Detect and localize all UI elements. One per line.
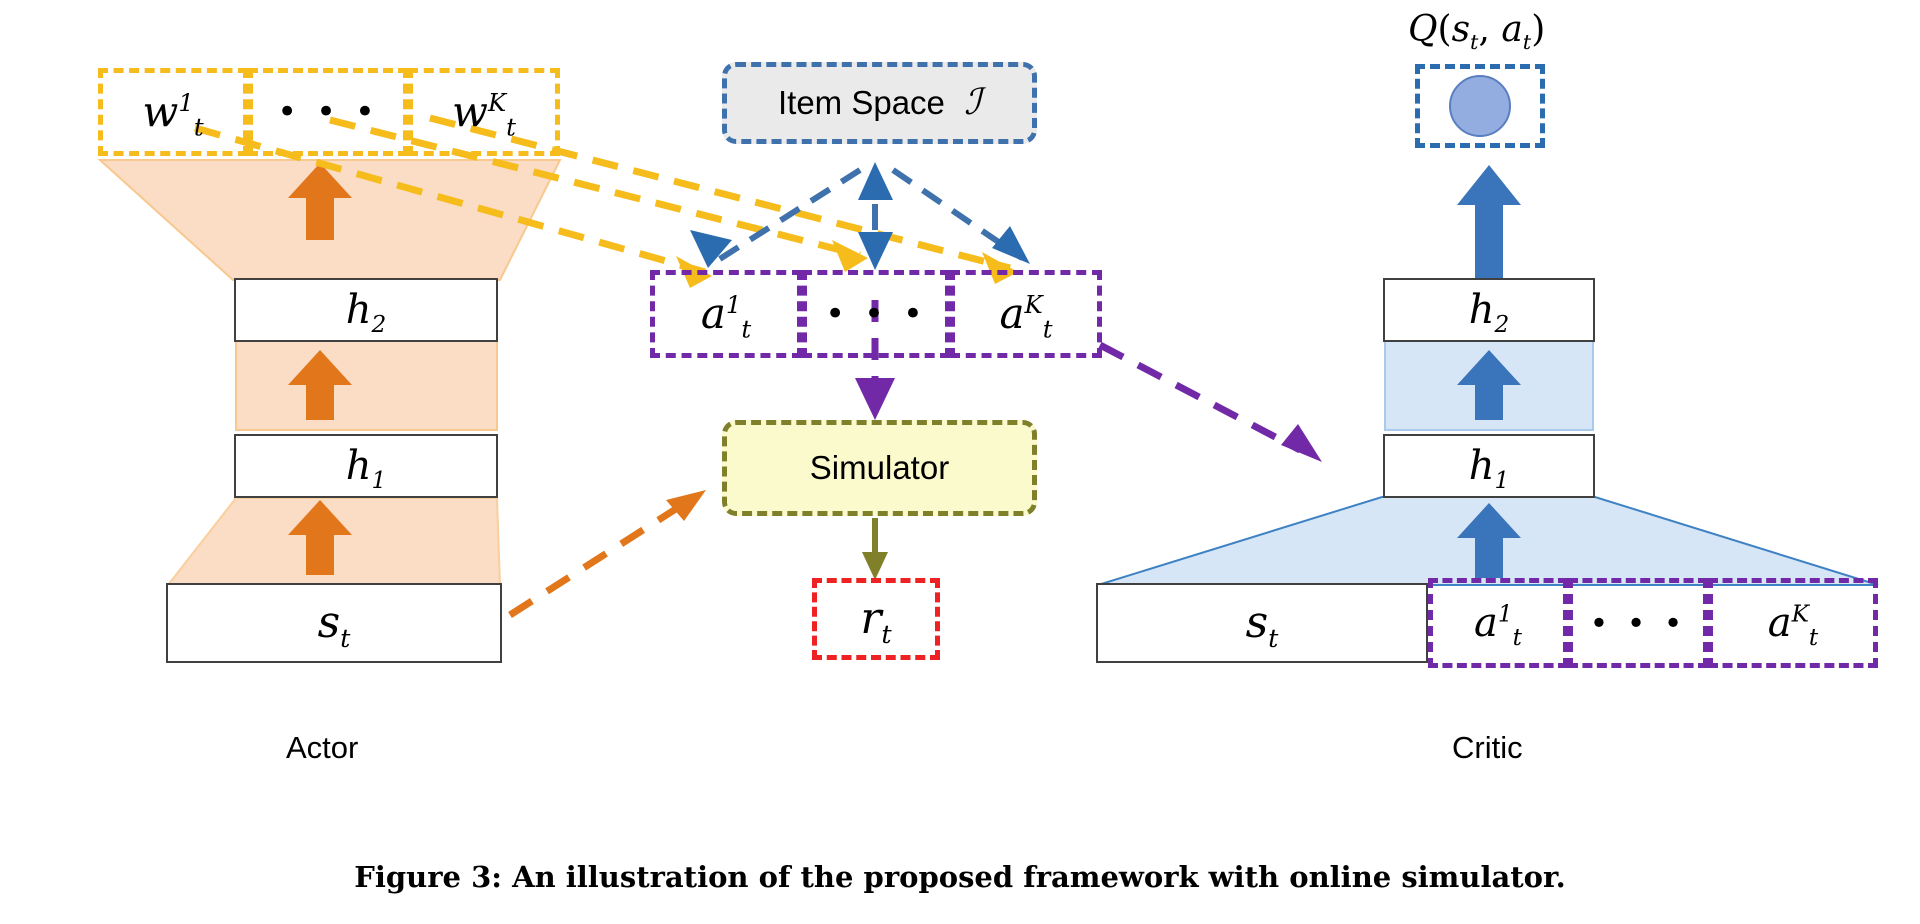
q-value-math: Q(st, at) <box>1408 9 1545 50</box>
actor-section-label: Actor <box>286 730 358 766</box>
simulator-to-reward-arrow <box>862 518 888 580</box>
critic-hidden-layer-h1[interactable]: h1 <box>1383 434 1595 498</box>
critic-lower-fan <box>1098 497 1878 585</box>
actor-hidden-layer-h1[interactable]: h1 <box>234 434 498 498</box>
critic-input-state-label: st <box>1246 601 1279 645</box>
critic-arrows <box>1457 165 1521 578</box>
actor-weight-box-ellipsis[interactable]: • • • <box>248 68 408 156</box>
itemspace-arrowheads <box>690 162 1030 270</box>
action-1-label: a1t <box>701 293 751 335</box>
action-box-ellipsis[interactable]: • • • <box>802 270 950 358</box>
actor-h2-label: h2 <box>346 290 387 330</box>
critic-hidden-layer-h2[interactable]: h2 <box>1383 278 1595 342</box>
state-to-simulator-arrow <box>510 490 706 615</box>
critic-action-1-label: a1t <box>1474 603 1522 643</box>
reward-label: rt <box>860 597 891 641</box>
critic-input-action-box-k[interactable]: aKt <box>1708 578 1878 668</box>
item-space-symbol: ℐ <box>964 82 981 123</box>
item-space-label: Item Space ℐ <box>778 84 981 122</box>
actor-middle-band <box>236 340 497 430</box>
critic-h2-label: h2 <box>1469 290 1510 330</box>
itemspace-action-arrows <box>715 170 1022 262</box>
critic-output-box[interactable] <box>1415 64 1545 148</box>
critic-input-action-box-ellipsis[interactable]: • • • <box>1568 578 1708 668</box>
actor-hidden-layer-h2[interactable]: h2 <box>234 278 498 342</box>
figure-caption: Figure 3: An illustration of the propose… <box>0 860 1920 894</box>
simulator-box[interactable]: Simulator <box>722 420 1037 516</box>
action-ellipsis-label: • • • <box>825 297 927 331</box>
critic-input-action-box-1[interactable]: a1t <box>1428 578 1568 668</box>
actor-upper-fan <box>100 160 560 280</box>
weight-1-label: w1t <box>142 91 203 133</box>
figure-3-diagram: w1t • • • wKt h2 h1 st Actor Item Space … <box>0 0 1920 924</box>
actor-weight-box-k[interactable]: wKt <box>408 68 560 156</box>
actor-h1-label: h1 <box>346 446 387 486</box>
actor-state-box[interactable]: st <box>166 583 502 663</box>
actor-arrows <box>288 163 352 575</box>
weight-k-label: wKt <box>452 91 516 133</box>
critic-action-k-label: aKt <box>1768 603 1819 643</box>
weight-ellipsis-label: • • • <box>277 95 379 129</box>
critic-action-ellipsis-label: • • • <box>1590 607 1687 639</box>
actor-weight-box-1[interactable]: w1t <box>98 68 248 156</box>
reward-box[interactable]: rt <box>812 578 940 660</box>
simulator-label: Simulator <box>810 449 949 487</box>
q-value-circle-icon <box>1449 75 1511 137</box>
action-to-critic-arrow <box>1100 345 1322 462</box>
critic-q-value-label: Q(st, at) <box>1408 8 1545 50</box>
item-space-box[interactable]: Item Space ℐ <box>722 62 1037 144</box>
action-box-1[interactable]: a1t <box>650 270 802 358</box>
actor-state-label: st <box>318 601 351 645</box>
critic-input-state-box[interactable]: st <box>1096 583 1428 663</box>
critic-h1-label: h1 <box>1469 446 1510 486</box>
critic-section-label: Critic <box>1452 730 1523 766</box>
critic-middle-band <box>1385 340 1593 430</box>
action-k-label: aKt <box>999 293 1052 335</box>
action-box-k[interactable]: aKt <box>950 270 1102 358</box>
actor-lower-fan <box>168 498 500 585</box>
